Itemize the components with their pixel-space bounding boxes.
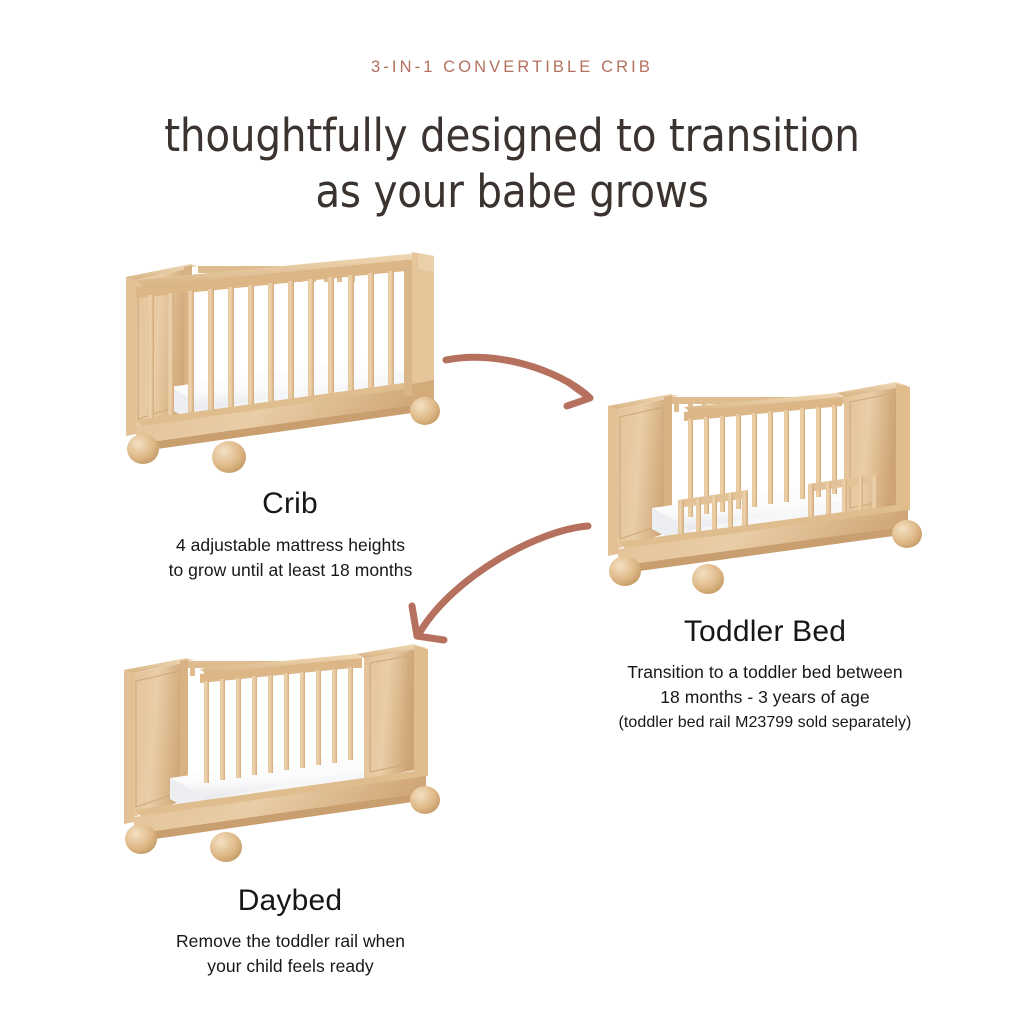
crib-description-line-1: 4 adjustable mattress heights [108,533,473,558]
page-title: thoughtfully designed to transition as y… [0,108,1024,221]
toddler-bed-description-line-1: Transition to a toddler bed between [575,660,955,685]
daybed-description-line-1: Remove the toddler rail when [108,929,473,954]
toddler-bed-description-line-2: 18 months - 3 years of age [575,685,955,710]
daybed-product-image [112,638,442,866]
daybed-right-side-panel [356,644,428,780]
page-title-line-2: as your babe grows [0,164,1024,220]
daybed-description-line-2: your child feels ready [108,954,473,979]
daybed-description: Remove the toddler rail when your child … [108,929,473,980]
eyebrow-label: 3-IN-1 CONVERTIBLE CRIB [0,58,1024,77]
crib-title: Crib [125,487,455,521]
toddler-bed-title: Toddler Bed [600,615,930,649]
toddler-bed-rail-note: (toddler bed rail M23799 sold separately… [575,711,955,734]
crib-description-line-2: to grow until at least 18 months [108,558,473,583]
crib-description: 4 adjustable mattress heights to grow un… [108,533,473,584]
page-title-line-1: thoughtfully designed to transition [0,108,1024,164]
toddler-bed-product-image [596,374,930,596]
crib-product-image [112,244,442,474]
toddler-bed-description: Transition to a toddler bed between 18 m… [575,660,955,734]
crib-right-side-panel [404,252,434,404]
daybed-title: Daybed [125,884,455,918]
